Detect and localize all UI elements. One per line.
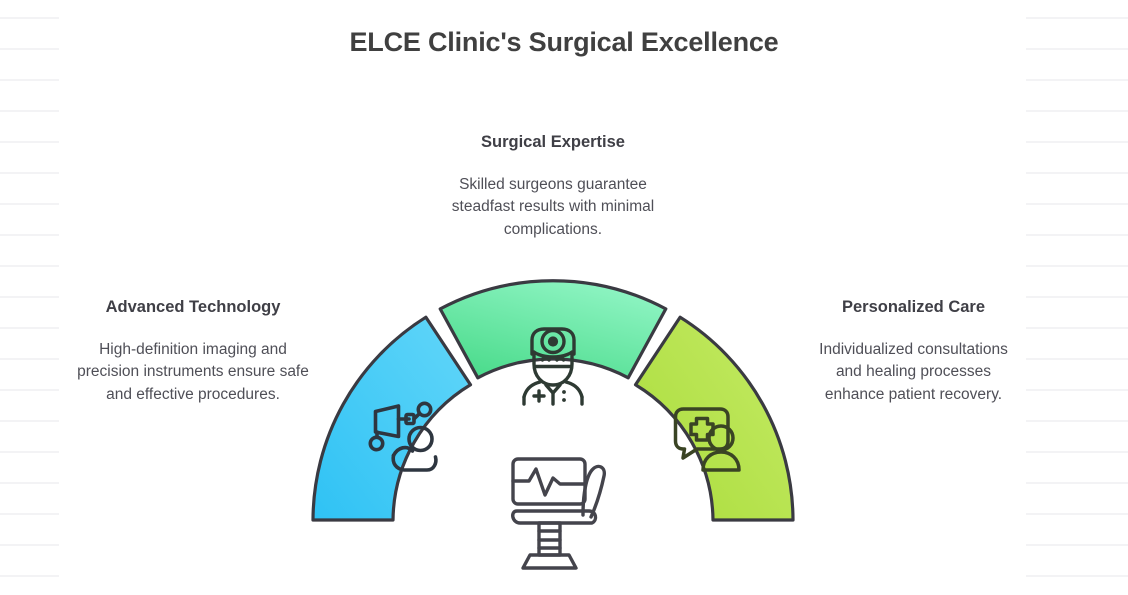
label-body-personalized-care: Individualized consultations and healing… bbox=[812, 339, 1015, 407]
surgeon-with-mask-icon bbox=[524, 329, 582, 404]
label-body-surgical-expertise: Skilled surgeons guarantee steadfast res… bbox=[437, 174, 669, 242]
surgery-chair-with-vitals-monitor-icon bbox=[513, 459, 605, 568]
segment-personalized-care[interactable] bbox=[636, 317, 794, 520]
label-heading-personalized-care: Personalized Care bbox=[812, 298, 1015, 318]
page-title: ELCE Clinic's Surgical Excellence bbox=[0, 27, 1128, 58]
label-body-advanced-technology: High-definition imaging and precision in… bbox=[72, 339, 314, 407]
label-heading-surgical-expertise: Surgical Expertise bbox=[437, 133, 669, 153]
label-block-surgical-expertise: Surgical Expertise Skilled surgeons guar… bbox=[437, 133, 669, 242]
label-block-advanced-technology: Advanced Technology High-definition imag… bbox=[72, 298, 314, 407]
label-heading-advanced-technology: Advanced Technology bbox=[72, 298, 314, 318]
label-block-personalized-care: Personalized Care Individualized consult… bbox=[812, 298, 1015, 407]
